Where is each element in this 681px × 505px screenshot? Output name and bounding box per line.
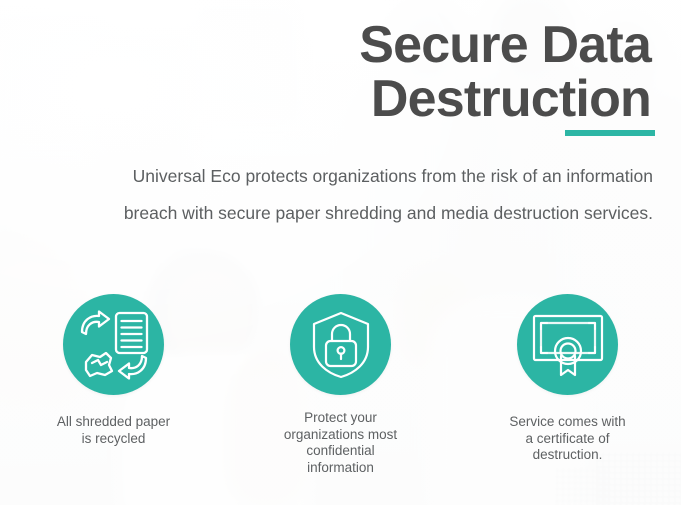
feature-item-recycled-paper: All shredded paper is recycled: [0, 294, 227, 476]
feature-icon-circle: [290, 294, 391, 395]
feature-caption: Protect your organizations most confiden…: [284, 410, 397, 476]
feature-item-confidentiality: Protect your organizations most confiden…: [227, 294, 454, 476]
feature-icon-circle: [517, 294, 618, 395]
headline-line-1: Secure Data: [359, 16, 651, 74]
banner-content: Secure Data Destruction Universal Eco pr…: [0, 0, 681, 505]
page-title: Secure Data Destruction: [231, 18, 651, 126]
recycled-paper-icon: [77, 310, 151, 380]
feature-item-certificate: Service comes with a certificate of dest…: [454, 294, 681, 476]
certificate-award-icon: [532, 312, 604, 378]
accent-underline-bar: [565, 130, 655, 136]
shield-lock-icon: [310, 311, 372, 379]
feature-icon-circle: [63, 294, 164, 395]
feature-caption: Service comes with a certificate of dest…: [509, 414, 625, 464]
feature-caption: All shredded paper is recycled: [57, 414, 170, 447]
headline-line-2: Destruction: [231, 72, 651, 126]
secure-data-destruction-banner: Secure Data Destruction Universal Eco pr…: [0, 0, 681, 505]
intro-paragraph: Universal Eco protects organizations fro…: [123, 158, 653, 232]
feature-list: All shredded paper is recycled: [0, 294, 681, 476]
